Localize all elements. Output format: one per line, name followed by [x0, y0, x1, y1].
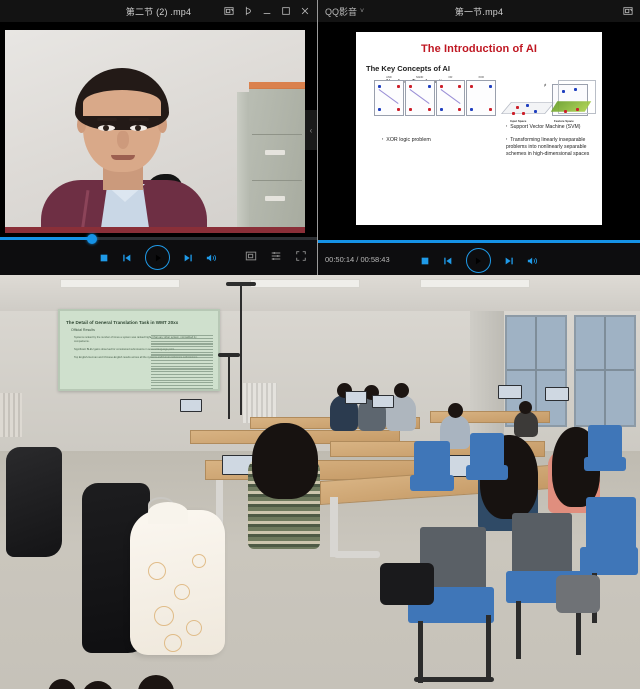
next-button[interactable]: [504, 256, 514, 266]
webcam-scene: [5, 30, 305, 233]
stop-button[interactable]: [420, 256, 430, 266]
white-jacket: [130, 510, 225, 655]
laptop: [498, 385, 522, 399]
table-foot: [334, 551, 380, 558]
right-player-controls: 00:50:14 / 00:58:43: [318, 240, 640, 275]
right-video-window: QQ影音 ˅ 第一节.mp4 The Introduction of AI: [318, 0, 640, 275]
snapshot-icon[interactable]: [619, 3, 636, 20]
classroom-photo: The Detail of General Translation Task i…: [0, 275, 640, 689]
right-progress-track[interactable]: [318, 240, 640, 243]
panel-collapse-chevron-icon[interactable]: ‹: [305, 110, 317, 150]
slide-right-column: Support Vector Machine (SVM) Transformin…: [506, 124, 598, 164]
laptop: [345, 391, 367, 404]
table-leg: [330, 497, 338, 557]
person-brow-right: [129, 118, 149, 121]
feature-space-label: Feature Space: [554, 119, 574, 123]
cast-icon[interactable]: [239, 3, 256, 20]
previous-button[interactable]: [443, 256, 453, 266]
cabinet-side: [237, 92, 249, 233]
coat-on-chair-left: [6, 447, 62, 557]
play-button[interactable]: [145, 245, 170, 270]
app-menu-button[interactable]: QQ影音 ˅: [318, 5, 364, 18]
slide-bullet-4: Transforming linearly inseparable proble…: [506, 137, 598, 158]
ceiling: [0, 275, 640, 311]
left-player-controls: [0, 237, 317, 275]
svm-transform-diagram: ϕ Input Space Feature Space: [504, 76, 592, 122]
laptop: [545, 387, 569, 401]
close-icon[interactable]: [296, 3, 313, 20]
person-eye-right: [130, 125, 147, 131]
person-nose: [117, 131, 129, 149]
maximize-icon[interactable]: [277, 3, 294, 20]
logic-gate-label: OR: [448, 76, 452, 79]
logic-gate-or: OR: [436, 80, 466, 116]
projected-slide: The Detail of General Translation Task i…: [58, 309, 220, 391]
bag-gray: [556, 575, 600, 613]
logic-gate-xor: XOR: [466, 80, 496, 116]
presentation-slide: The Introduction of AI The Key Concepts …: [356, 32, 602, 225]
logic-gate-and: AND: [374, 80, 404, 116]
left-window-titlebar: 第二节 (2) .mp4: [0, 0, 317, 22]
next-button[interactable]: [183, 253, 193, 263]
laptop: [372, 395, 394, 408]
right-window-titlebar: QQ影音 ˅ 第一节.mp4: [318, 0, 640, 22]
left-video-window: 第二节 (2) .mp4: [0, 0, 318, 275]
microphone-stand-front: [228, 357, 230, 419]
projected-slide-results-table: [151, 335, 213, 391]
radiator-left: [0, 393, 22, 437]
slide-title: The Introduction of AI: [356, 43, 602, 55]
play-button[interactable]: [466, 248, 491, 273]
projected-slide-title: The Detail of General Translation Task i…: [66, 320, 218, 325]
left-progress-handle[interactable]: [87, 234, 97, 244]
window-right: [574, 315, 636, 427]
right-progress-fill: [318, 240, 640, 243]
snapshot-icon[interactable]: [220, 3, 237, 20]
logic-gate-label: NAND: [416, 76, 423, 79]
microphone-stand-tall: [240, 285, 242, 415]
desk-edge: [5, 227, 305, 233]
right-transport-buttons: [318, 248, 640, 273]
backpack: [380, 563, 434, 605]
volume-button[interactable]: [206, 252, 218, 264]
video-players-row: 第二节 (2) .mp4: [0, 0, 640, 275]
left-progress-fill: [0, 237, 92, 240]
right-video-stage[interactable]: The Introduction of AI The Key Concepts …: [318, 22, 640, 240]
filing-cabinet: [249, 88, 305, 233]
logic-gate-nand: NAND: [405, 80, 435, 116]
fullscreen-button[interactable]: [295, 250, 307, 262]
playlist-button[interactable]: [270, 250, 282, 262]
minimize-icon[interactable]: [258, 3, 275, 20]
right-window-title: 第一节.mp4: [318, 5, 640, 18]
person-hair: [75, 68, 169, 130]
laptop: [180, 399, 202, 412]
chevron-down-icon: ˅: [360, 8, 364, 15]
left-video-stage[interactable]: ‹: [0, 22, 317, 237]
left-player-right-buttons: [245, 250, 307, 262]
logic-gate-diagrams: AND NAND OR: [374, 80, 496, 116]
slide-bullet-3: Support Vector Machine (SVM): [506, 124, 598, 131]
logic-gate-label: XOR: [478, 76, 484, 79]
input-space-label: Input Space: [510, 119, 526, 123]
logic-gate-label: AND: [386, 76, 391, 79]
capture-button[interactable]: [245, 250, 257, 262]
left-progress-track[interactable]: [0, 237, 317, 240]
right-window-controls: [619, 0, 636, 22]
phi-symbol: ϕ: [544, 82, 546, 87]
screen-root: 第二节 (2) .mp4: [0, 0, 640, 689]
person-brow-left: [97, 118, 117, 121]
previous-button[interactable]: [122, 253, 132, 263]
volume-button[interactable]: [527, 255, 539, 267]
app-menu-label: QQ影音: [325, 5, 357, 18]
person-mouth: [111, 155, 135, 160]
slide-subtitle: The Key Concepts of AI: [366, 64, 602, 73]
left-window-controls: [220, 0, 313, 22]
person-eye-left: [98, 125, 115, 131]
projected-slide-subtitle: Official Results: [71, 328, 218, 332]
stop-button[interactable]: [99, 253, 109, 263]
separating-hyperplane: [551, 101, 591, 111]
